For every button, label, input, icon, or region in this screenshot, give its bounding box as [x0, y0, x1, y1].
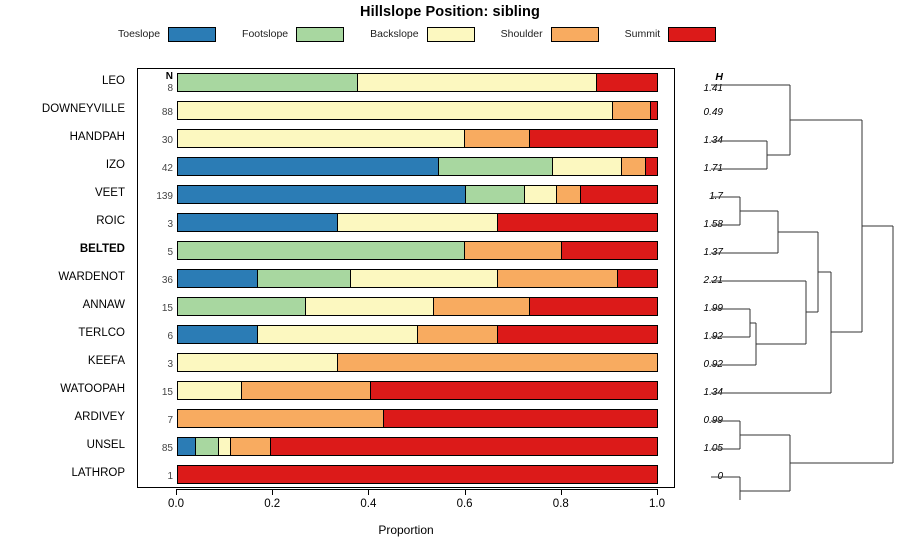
bar-segment-footslope[interactable]: [466, 186, 525, 203]
x-axis-tick-label: 0.2: [252, 498, 292, 510]
legend-label: Footslope: [242, 28, 288, 40]
bar-segment-backslope[interactable]: [219, 438, 231, 455]
table-row[interactable]: 30.92: [138, 349, 674, 377]
bar-segment-footslope[interactable]: [258, 270, 351, 287]
legend-item-backslope[interactable]: Backslope: [370, 27, 500, 42]
y-axis-label-leo: LEO: [0, 75, 125, 87]
bar-segment-backslope[interactable]: [306, 298, 434, 315]
x-axis-tick: [657, 489, 658, 495]
bar-segment-footslope[interactable]: [178, 74, 358, 91]
legend-swatch-icon: [296, 27, 344, 42]
legend-item-summit[interactable]: Summit: [625, 27, 717, 42]
x-axis-tick: [561, 489, 562, 495]
y-axis-labels: LEODOWNEYVILLEHANDPAHIZOVEETROICBELTEDWA…: [0, 68, 133, 488]
legend-label: Toeslope: [118, 28, 160, 40]
bar-segment-backslope[interactable]: [351, 270, 497, 287]
bar-segment-summit[interactable]: [530, 130, 657, 147]
bar-segment-shoulder[interactable]: [178, 410, 384, 427]
y-axis-label-terlco: TERLCO: [0, 327, 125, 339]
x-axis-title: Proportion: [137, 523, 675, 537]
bar-segment-shoulder[interactable]: [613, 102, 652, 119]
bar-segment-summit[interactable]: [271, 438, 657, 455]
x-axis-tick: [465, 489, 466, 495]
legend-label: Summit: [625, 28, 661, 40]
y-axis-label-downeyville: DOWNEYVILLE: [0, 103, 125, 115]
dendrogram: [700, 60, 900, 500]
y-axis-label-veet: VEET: [0, 187, 125, 199]
bar-segment-summit[interactable]: [581, 186, 657, 203]
row-n-value: 6: [140, 331, 173, 342]
y-axis-label-lathrop: LATHROP: [0, 467, 125, 479]
stacked-bar[interactable]: [177, 353, 658, 372]
row-n-value: 42: [140, 163, 173, 174]
x-axis-tick: [176, 489, 177, 495]
bar-segment-summit[interactable]: [178, 466, 657, 483]
x-axis-tick: [368, 489, 369, 495]
row-n-value: 85: [140, 443, 173, 454]
table-row[interactable]: 1391.7: [138, 181, 674, 209]
bar-segment-backslope[interactable]: [553, 158, 622, 175]
table-row[interactable]: 81.41: [138, 69, 674, 97]
legend-swatch-icon: [668, 27, 716, 42]
row-n-value: 88: [140, 107, 173, 118]
stacked-bar[interactable]: [177, 381, 658, 400]
row-n-value: 7: [140, 415, 173, 426]
bar-segment-backslope[interactable]: [178, 102, 613, 119]
legend-swatch-icon: [427, 27, 475, 42]
stacked-bar[interactable]: [177, 297, 658, 316]
legend-item-shoulder[interactable]: Shoulder: [501, 27, 625, 42]
x-axis-tick: [272, 489, 273, 495]
bar-segment-summit[interactable]: [597, 74, 657, 91]
bar-segment-summit[interactable]: [651, 102, 657, 119]
bar-segment-backslope[interactable]: [338, 214, 498, 231]
stacked-bar[interactable]: [177, 129, 658, 148]
row-n-value: 15: [140, 303, 173, 314]
bar-segment-toeslope[interactable]: [178, 214, 338, 231]
bar-segment-summit[interactable]: [498, 326, 657, 343]
stacked-bar[interactable]: [177, 241, 658, 260]
stacked-bar[interactable]: [177, 73, 658, 92]
row-n-value: 30: [140, 135, 173, 146]
x-axis-tick-label: 0.0: [156, 498, 196, 510]
y-axis-label-roic: ROIC: [0, 215, 125, 227]
bar-rows: NH81.41880.49301.34421.711391.731.5851.3…: [138, 69, 674, 487]
stacked-bar[interactable]: [177, 325, 658, 344]
table-row[interactable]: 70.99: [138, 405, 674, 433]
bar-segment-backslope[interactable]: [258, 326, 418, 343]
bar-segment-summit[interactable]: [646, 158, 657, 175]
bar-segment-shoulder[interactable]: [418, 326, 498, 343]
bar-segment-backslope[interactable]: [178, 130, 465, 147]
legend-swatch-icon: [551, 27, 599, 42]
table-row[interactable]: 61.92: [138, 321, 674, 349]
bar-segment-footslope[interactable]: [178, 242, 465, 259]
row-n-value: 5: [140, 247, 173, 258]
x-axis-tick-label: 0.6: [445, 498, 485, 510]
bar-segment-footslope[interactable]: [196, 438, 219, 455]
table-row[interactable]: 51.37: [138, 237, 674, 265]
bar-segment-shoulder[interactable]: [498, 270, 618, 287]
table-row[interactable]: 151.34: [138, 377, 674, 405]
row-n-value: 1: [140, 471, 173, 482]
table-row[interactable]: 421.71: [138, 153, 674, 181]
bar-segment-toeslope[interactable]: [178, 158, 439, 175]
y-axis-label-annaw: ANNAW: [0, 299, 125, 311]
y-axis-label-ardivey: ARDIVEY: [0, 411, 125, 423]
bar-segment-backslope[interactable]: [178, 382, 242, 399]
bar-segment-shoulder[interactable]: [465, 130, 529, 147]
legend-item-toeslope[interactable]: Toeslope: [118, 27, 242, 42]
bar-segment-shoulder[interactable]: [622, 158, 646, 175]
stacked-bar[interactable]: [177, 269, 658, 288]
row-n-value: 8: [140, 83, 173, 94]
row-n-value: 3: [140, 219, 173, 230]
y-axis-label-izo: IZO: [0, 159, 125, 171]
bar-segment-footslope[interactable]: [439, 158, 553, 175]
bar-segment-toeslope[interactable]: [178, 326, 258, 343]
bar-segment-summit[interactable]: [562, 242, 657, 259]
legend-item-footslope[interactable]: Footslope: [242, 27, 370, 42]
stacked-bar[interactable]: [177, 185, 658, 204]
legend-swatch-icon: [168, 27, 216, 42]
bar-segment-shoulder[interactable]: [434, 298, 530, 315]
table-row[interactable]: 880.49: [138, 97, 674, 125]
legend-label: Shoulder: [501, 28, 543, 40]
table-row[interactable]: 151.99: [138, 293, 674, 321]
bar-segment-backslope[interactable]: [358, 74, 598, 91]
bar-segment-backslope[interactable]: [178, 354, 338, 371]
row-n-value: 15: [140, 387, 173, 398]
table-row[interactable]: 301.34: [138, 125, 674, 153]
x-axis-line: [176, 489, 657, 490]
table-row[interactable]: 10: [138, 461, 674, 489]
bar-segment-toeslope[interactable]: [178, 186, 466, 203]
y-axis-label-wardenot: WARDENOT: [0, 271, 125, 283]
stacked-bar[interactable]: [177, 465, 658, 484]
chart-title: Hillslope Position: sibling: [0, 4, 900, 20]
table-row[interactable]: 31.58: [138, 209, 674, 237]
bar-segment-shoulder[interactable]: [338, 354, 657, 371]
stacked-bar[interactable]: [177, 213, 658, 232]
stacked-bar[interactable]: [177, 437, 658, 456]
y-axis-label-keefa: KEEFA: [0, 355, 125, 367]
bar-segment-summit[interactable]: [618, 270, 657, 287]
y-axis-label-belted: BELTED: [0, 243, 125, 255]
stacked-bar[interactable]: [177, 101, 658, 120]
table-row[interactable]: 362.21: [138, 265, 674, 293]
bar-segment-summit[interactable]: [498, 214, 657, 231]
chart-root: Hillslope Position: sibling ToeslopeFoot…: [0, 0, 900, 560]
bar-segment-shoulder[interactable]: [557, 186, 582, 203]
bar-segment-summit[interactable]: [384, 410, 657, 427]
y-axis-label-handpah: HANDPAH: [0, 131, 125, 143]
legend-label: Backslope: [370, 28, 418, 40]
x-axis-tick-label: 0.4: [348, 498, 388, 510]
row-n-value: 3: [140, 359, 173, 370]
row-n-value: 139: [140, 191, 173, 202]
bar-segment-toeslope[interactable]: [178, 438, 196, 455]
bar-segment-summit[interactable]: [530, 298, 657, 315]
bar-segment-toeslope[interactable]: [178, 270, 258, 287]
bar-segment-backslope[interactable]: [525, 186, 557, 203]
table-row[interactable]: 851.05: [138, 433, 674, 461]
legend: ToeslopeFootslopeBackslopeShoulderSummit: [118, 25, 738, 43]
y-axis-label-watoopah: WATOOPAH: [0, 383, 125, 395]
plot-panel: NH81.41880.49301.34421.711391.731.5851.3…: [137, 68, 675, 488]
x-axis-tick-label: 0.8: [541, 498, 581, 510]
bar-segment-summit[interactable]: [371, 382, 657, 399]
x-axis-tick-label: 1.0: [637, 498, 677, 510]
row-n-value: 36: [140, 275, 173, 286]
stacked-bar[interactable]: [177, 409, 658, 428]
bar-segment-footslope[interactable]: [178, 298, 306, 315]
bar-segment-shoulder[interactable]: [242, 382, 370, 399]
bar-segment-shoulder[interactable]: [231, 438, 271, 455]
stacked-bar[interactable]: [177, 157, 658, 176]
bar-segment-shoulder[interactable]: [465, 242, 561, 259]
y-axis-label-unsel: UNSEL: [0, 439, 125, 451]
